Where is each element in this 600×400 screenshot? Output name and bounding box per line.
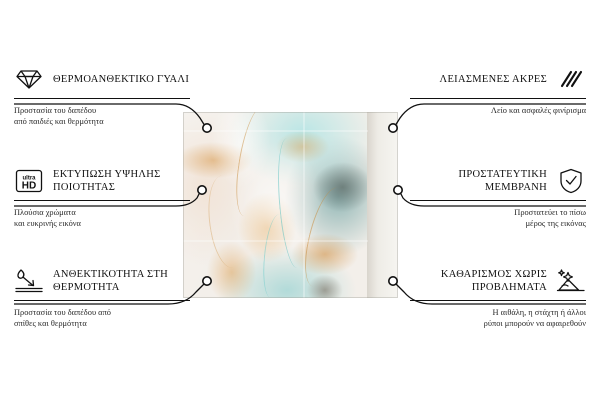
feature-high-quality-print: ultra HD ΕΚΤΥΠΩΣΗ ΥΨΗΛΗΣ ΠΟΙΟΤΗΤΑΣ Πλούσ…	[14, 166, 190, 229]
feature-header: ultra HD ΕΚΤΥΠΩΣΗ ΥΨΗΛΗΣ ΠΟΙΟΤΗΤΑΣ	[14, 166, 190, 196]
feature-heat-durability: ΑΝΘΕΚΤΙΚΟΤΗΤΑ ΣΤΗ ΘΕΡΜΟΤΗΤΑ Προστασία το…	[14, 266, 190, 329]
product-image-stage	[183, 112, 398, 298]
feature-title: ΘΕΡΜΟΑΝΘΕΚΤΙΚΟ ΓΥΑΛΙ	[53, 73, 190, 86]
heat-resistance-icon	[14, 267, 44, 295]
feature-divider	[410, 300, 586, 301]
feature-polished-edges: ΛΕΙΑΣΜΕΝΕΣ ΑΚΡΕΣ Λείο και ασφαλές φινίρι…	[410, 64, 586, 116]
ultra-hd-large-label: HD	[22, 181, 36, 192]
feature-header: ΘΕΡΜΟΑΝΘΕΚΤΙΚΟ ΓΥΑΛΙ	[14, 64, 190, 94]
feature-title: ΑΝΘΕΚΤΙΚΟΤΗΤΑ ΣΤΗ ΘΕΡΜΟΤΗΤΑ	[53, 268, 190, 294]
feature-divider	[14, 98, 190, 99]
feature-divider	[14, 300, 190, 301]
feature-heat-resistant-glass: ΘΕΡΜΟΑΝΘΕΚΤΙΚΟ ΓΥΑΛΙ Προστασία του δαπέδ…	[14, 64, 190, 127]
feature-easy-cleaning: ΚΑΘΑΡΙΣΜΟΣ ΧΩΡΙΣ ΠΡΟΒΛΗΜΑΤΑ Η αιθάλη, η …	[410, 266, 586, 329]
infographic-root: ΘΕΡΜΟΑΝΘΕΚΤΙΚΟ ΓΥΑΛΙ Προστασία του δαπέδ…	[0, 0, 600, 400]
feature-title: ΚΑΘΑΡΙΣΜΟΣ ΧΩΡΙΣ ΠΡΟΒΛΗΜΑΤΑ	[410, 268, 547, 294]
feature-divider	[14, 200, 190, 201]
feature-header: ΚΑΘΑΡΙΣΜΟΣ ΧΩΡΙΣ ΠΡΟΒΛΗΜΑΤΑ	[410, 266, 586, 296]
feature-header: ΠΡΟΣΤΑΤΕΥΤΙΚΗ ΜΕΜΒΡΑΝΗ	[410, 166, 586, 196]
feature-description: Προστασία του δαπέδουαπό παιδιές και θερ…	[14, 105, 190, 127]
ultra-hd-badge-icon: ultra HD	[14, 167, 44, 195]
cleaning-sparkle-icon	[556, 267, 586, 295]
feature-header: ΑΝΘΕΚΤΙΚΟΤΗΤΑ ΣΤΗ ΘΕΡΜΟΤΗΤΑ	[14, 266, 190, 296]
feature-protective-membrane: ΠΡΟΣΤΑΤΕΥΤΙΚΗ ΜΕΜΒΡΑΝΗ Προστατεύει το πί…	[410, 166, 586, 229]
feature-description: Πλούσια χρώματακαι ευκρινής εικόνα	[14, 207, 190, 229]
feature-description: Η αιθάλη, η στάχτη ή άλλοιρύποι μπορούν …	[410, 307, 586, 329]
feature-description: Λείο και ασφαλές φινίρισμα	[410, 105, 586, 116]
feature-title: ΠΡΟΣΤΑΤΕΥΤΙΚΗ ΜΕΜΒΡΑΝΗ	[410, 168, 547, 194]
feature-header: ΛΕΙΑΣΜΕΝΕΣ ΑΚΡΕΣ	[410, 64, 586, 94]
marble-artwork	[183, 112, 368, 298]
feature-title: ΛΕΙΑΣΜΕΝΕΣ ΑΚΡΕΣ	[410, 73, 547, 86]
feature-description: Προστατεύει το πίσωμέρος της εικόνας	[410, 207, 586, 229]
feature-divider	[410, 200, 586, 201]
diamond-icon	[14, 65, 44, 93]
feature-divider	[410, 98, 586, 99]
polished-edges-icon	[556, 65, 586, 93]
feature-description: Προστασία του δαπέδου απόσπίθες και θερμ…	[14, 307, 190, 329]
shield-check-icon	[556, 167, 586, 195]
feature-title: ΕΚΤΥΠΩΣΗ ΥΨΗΛΗΣ ΠΟΙΟΤΗΤΑΣ	[53, 168, 190, 194]
